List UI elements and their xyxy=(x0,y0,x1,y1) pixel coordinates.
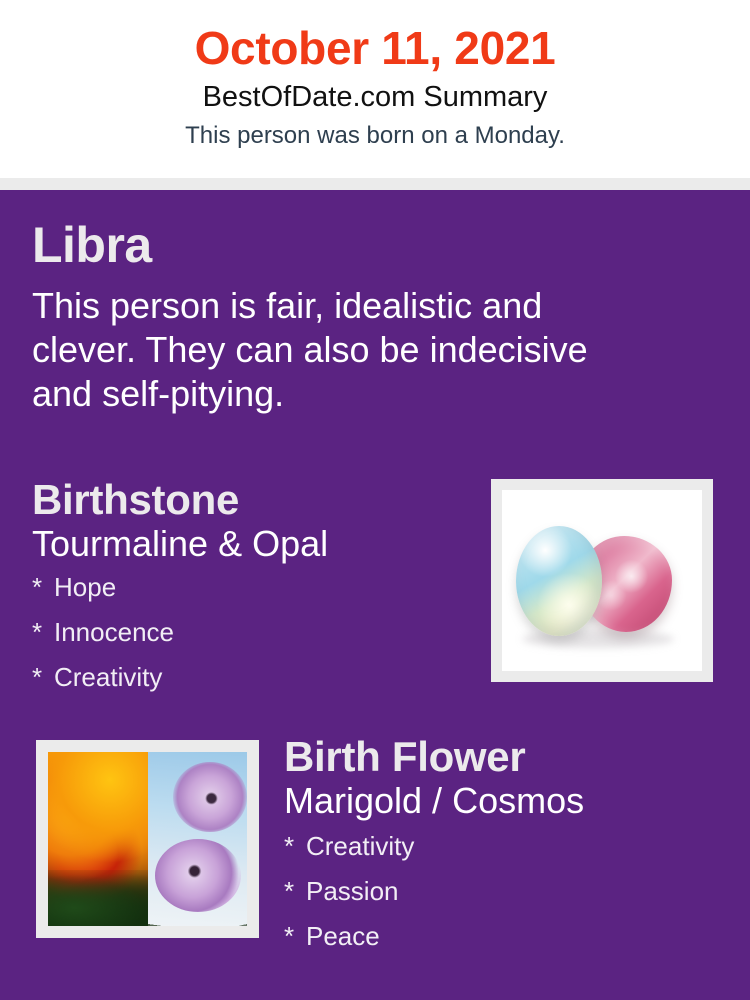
list-item: *Passion xyxy=(284,878,734,904)
flower-stems xyxy=(148,801,248,926)
birthstone-trait-label: Hope xyxy=(54,572,116,602)
birthflower-heading: Birth Flower xyxy=(284,735,734,779)
summary-page: October 11, 2021 BestOfDate.com Summary … xyxy=(0,0,750,1000)
birthflower-image xyxy=(48,752,247,926)
birthstone-trait-label: Creativity xyxy=(54,662,162,692)
bullet-star-icon: * xyxy=(32,664,54,690)
header-divider xyxy=(0,178,750,190)
bullet-star-icon: * xyxy=(32,574,54,600)
zodiac-section: Libra This person is fair, idealistic an… xyxy=(32,220,632,416)
birthstone-names: Tourmaline & Opal xyxy=(32,524,462,564)
cosmos-photo-half xyxy=(148,752,248,926)
birthflower-trait-label: Creativity xyxy=(306,831,414,861)
marigold-photo-half xyxy=(48,752,148,926)
birthflower-trait-label: Passion xyxy=(306,876,399,906)
birthstone-heading: Birthstone xyxy=(32,478,462,522)
opal-gem-icon xyxy=(516,526,602,636)
site-name-summary: BestOfDate.com Summary xyxy=(0,79,750,117)
birthstone-section: Birthstone Tourmaline & Opal *Hope *Inno… xyxy=(32,478,462,709)
page-title-date: October 11, 2021 xyxy=(0,22,750,75)
bullet-star-icon: * xyxy=(32,619,54,645)
list-item: *Peace xyxy=(284,923,734,949)
birthflower-section: Birth Flower Marigold / Cosmos *Creativi… xyxy=(284,735,734,968)
summary-body-panel: Libra This person is fair, idealistic an… xyxy=(0,190,750,1000)
bullet-star-icon: * xyxy=(284,833,306,859)
birth-weekday-note: This person was born on a Monday. xyxy=(0,120,750,151)
list-item: *Creativity xyxy=(284,833,734,859)
birthstone-trait-list: *Hope *Innocence *Creativity xyxy=(32,574,462,690)
birthstone-image-frame xyxy=(491,479,713,682)
bullet-star-icon: * xyxy=(284,923,306,949)
page-header: October 11, 2021 BestOfDate.com Summary … xyxy=(0,0,750,178)
birthstone-image xyxy=(502,490,702,671)
birthstone-trait-label: Innocence xyxy=(54,617,174,647)
zodiac-description: This person is fair, idealistic and clev… xyxy=(32,284,612,416)
list-item: *Creativity xyxy=(32,664,462,690)
birthflower-trait-list: *Creativity *Passion *Peace xyxy=(284,833,734,949)
birthflower-image-frame xyxy=(36,740,259,938)
bullet-star-icon: * xyxy=(284,878,306,904)
list-item: *Hope xyxy=(32,574,462,600)
birthflower-names: Marigold / Cosmos xyxy=(284,781,734,821)
zodiac-sign-name: Libra xyxy=(32,220,632,270)
birthflower-trait-label: Peace xyxy=(306,921,380,951)
list-item: *Innocence xyxy=(32,619,462,645)
